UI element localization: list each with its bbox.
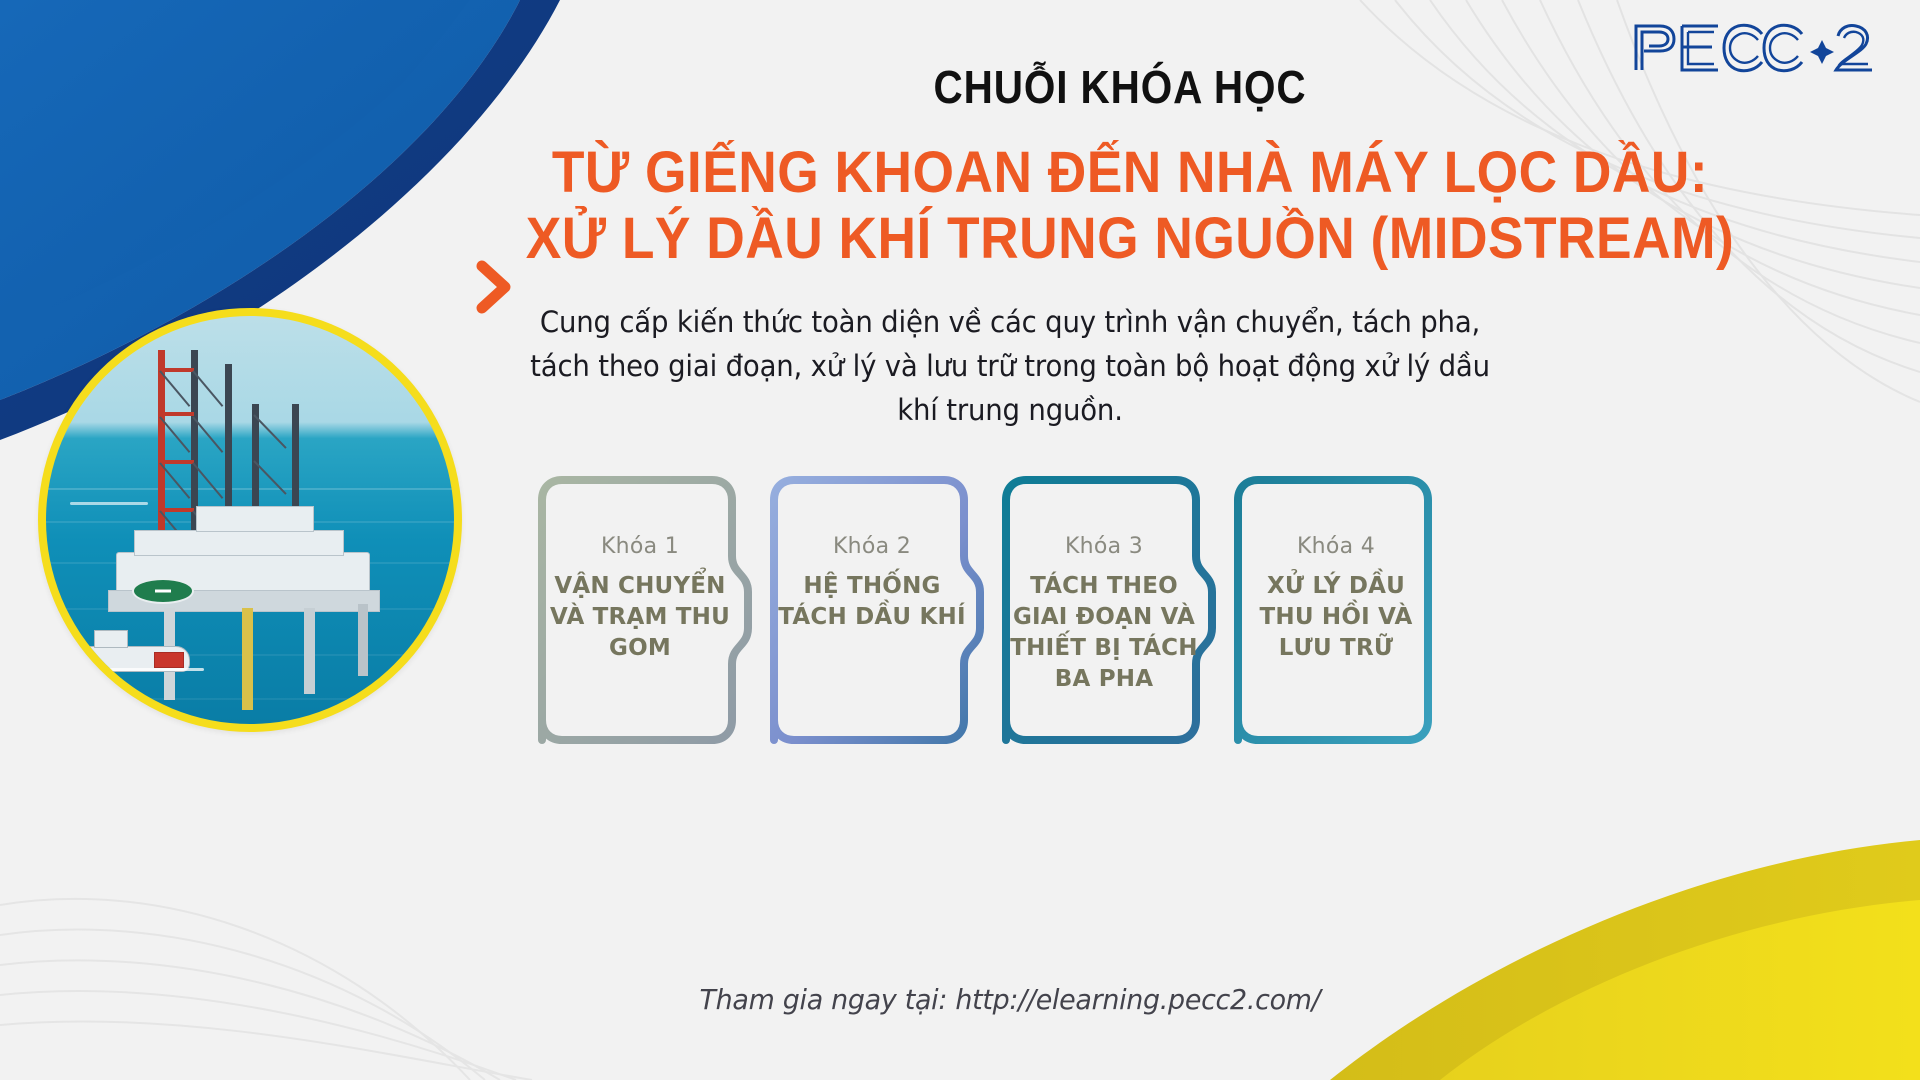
- course-card-3-title: TÁCH THEO GIAI ĐOẠN VÀ THIẾT BỊ TÁCH BA …: [1009, 571, 1199, 695]
- cta-url[interactable]: Tham gia ngay tại: http://elearning.pecc…: [520, 983, 1499, 1016]
- pecc2-logo-mark: [1630, 18, 1880, 78]
- course-card-2-kicker: Khóa 2: [833, 534, 911, 559]
- pecc2-logo: [1630, 18, 1880, 78]
- offshore-rig-photo-ring: [38, 308, 462, 732]
- page-title: TỪ GIẾNG KHOAN ĐẾN NHÀ MÁY LỌC DẦU: XỬ L…: [420, 140, 1840, 272]
- page-title-line-2: XỬ LÝ DẦU KHÍ TRUNG NGUỒN (MIDSTREAM): [477, 206, 1783, 272]
- course-flow: Khóa 1 VẬN CHUYỂN VÀ TRẠM THU GOM Khóa 2…: [534, 470, 1754, 760]
- star-icon: [1810, 40, 1834, 64]
- course-card-2[interactable]: Khóa 2 HỆ THỐNG TÁCH DẦU KHÍ: [766, 470, 978, 740]
- course-card-1[interactable]: Khóa 1 VẬN CHUYỂN VÀ TRẠM THU GOM: [534, 470, 746, 740]
- course-card-4-kicker: Khóa 4: [1297, 534, 1375, 559]
- course-card-4[interactable]: Khóa 4 XỬ LÝ DẦU THU HỒI VÀ LƯU TRỮ: [1230, 470, 1442, 740]
- course-card-1-kicker: Khóa 1: [601, 534, 679, 559]
- course-card-3[interactable]: Khóa 3 TÁCH THEO GIAI ĐOẠN VÀ THIẾT BỊ T…: [998, 470, 1210, 740]
- course-card-2-title: HỆ THỐNG TÁCH DẦU KHÍ: [777, 571, 967, 633]
- poster-canvas: CHUỖI KHÓA HỌC TỪ GIẾNG KHOAN ĐẾN NHÀ MÁ…: [0, 0, 1920, 1080]
- page-title-line-1: TỪ GIẾNG KHOAN ĐẾN NHÀ MÁY LỌC DẦU:: [477, 140, 1783, 206]
- course-card-1-title: VẬN CHUYỂN VÀ TRẠM THU GOM: [545, 571, 735, 664]
- course-description: Cung cấp kiến thức toàn diện về các quy …: [526, 300, 1495, 432]
- helideck: [132, 578, 194, 604]
- course-card-3-kicker: Khóa 3: [1065, 534, 1143, 559]
- offshore-drilling-rig-photo: [46, 316, 454, 724]
- page-kicker: CHUỖI KHÓA HỌC: [610, 60, 1631, 114]
- course-card-4-title: XỬ LÝ DẦU THU HỒI VÀ LƯU TRỮ: [1241, 571, 1431, 664]
